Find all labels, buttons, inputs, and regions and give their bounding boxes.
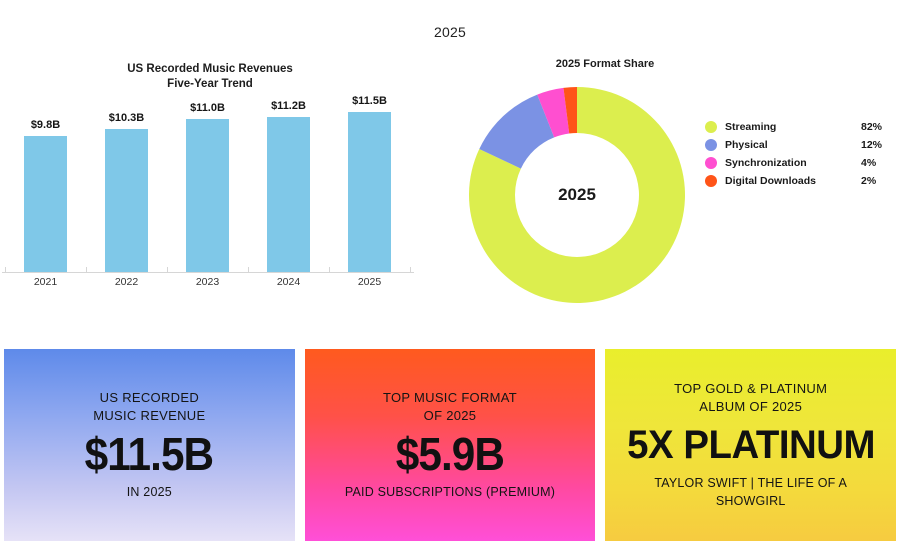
stat-cards-row: US RECORDED MUSIC REVENUE $11.5B IN 2025… (0, 349, 900, 541)
bar[interactable] (186, 119, 229, 272)
bar[interactable] (105, 129, 148, 272)
bar[interactable] (267, 117, 310, 272)
dashboard-page: 2025 US Recorded Music Revenues Five-Yea… (0, 0, 900, 548)
donut-chart-graphic: 2025 (465, 83, 689, 307)
bar-group: $11.5B (329, 100, 410, 272)
x-axis-label-2025: 2025 (329, 276, 410, 288)
bar-group: $10.3B (86, 100, 167, 272)
legend-swatch-icon (705, 139, 717, 151)
bar-chart-title: US Recorded Music Revenues Five-Year Tre… (0, 58, 420, 92)
legend-value: 12% (861, 139, 895, 151)
stat-card-us-recorded-music-revenue[interactable]: US RECORDED MUSIC REVENUE $11.5B IN 2025 (4, 349, 295, 541)
legend-value: 4% (861, 157, 895, 169)
x-axis-tick (167, 267, 168, 273)
stat-card-kicker-line2: OF 2025 (383, 407, 517, 425)
stat-card-kicker-line1: TOP MUSIC FORMAT (383, 389, 517, 407)
bar-chart-plot-area: $9.8B$10.3B$11.0B$11.2B$11.5B (0, 100, 420, 272)
stat-card-value: $11.5B (85, 425, 214, 483)
legend-swatch-icon (705, 157, 717, 169)
x-axis-label-2023: 2023 (167, 276, 248, 288)
bar-chart-title-line1: US Recorded Music Revenues (0, 62, 420, 77)
stat-card-value: $5.9B (396, 425, 504, 483)
legend-item-synchronization[interactable]: Synchronization4% (705, 154, 895, 172)
bar-chart-x-axis (2, 272, 414, 273)
stat-card-kicker-line1: TOP GOLD & PLATINUM (674, 380, 827, 398)
stat-card-kicker-line2: MUSIC REVENUE (93, 407, 205, 425)
x-axis-label-2024: 2024 (248, 276, 329, 288)
legend-swatch-icon (705, 175, 717, 187)
bar[interactable] (348, 112, 391, 272)
legend-label: Physical (725, 139, 861, 151)
page-title: 2025 (0, 24, 900, 40)
legend-swatch-icon (705, 121, 717, 133)
bar-group: $9.8B (5, 100, 86, 272)
x-axis-tick (329, 267, 330, 273)
x-axis-tick (5, 267, 6, 273)
bar-value-label: $11.0B (167, 102, 248, 114)
donut-svg (465, 83, 689, 307)
stat-card-kicker-line2: ALBUM OF 2025 (674, 398, 827, 416)
legend-item-streaming[interactable]: Streaming82% (705, 118, 895, 136)
bar-group: $11.0B (167, 100, 248, 272)
stat-card-kicker: US RECORDED MUSIC REVENUE (93, 389, 205, 425)
stat-card-value: 5X PLATINUM (627, 416, 875, 474)
bar-value-label: $10.3B (86, 112, 167, 124)
x-axis-label-2021: 2021 (5, 276, 86, 288)
bar-group: $11.2B (248, 100, 329, 272)
stat-card-subtitle-line2: SHOWGIRL (654, 492, 847, 510)
legend-label: Digital Downloads (725, 175, 861, 187)
bar-chart-panel: US Recorded Music Revenues Five-Year Tre… (0, 58, 420, 313)
stat-card-top-gold-platinum-album[interactable]: TOP GOLD & PLATINUM ALBUM OF 2025 5X PLA… (605, 349, 896, 541)
stat-card-kicker: TOP MUSIC FORMAT OF 2025 (383, 389, 517, 425)
stat-card-subtitle: IN 2025 (127, 483, 172, 501)
stat-card-subtitle-line1: TAYLOR SWIFT | THE LIFE OF A (654, 474, 847, 492)
legend-value: 82% (861, 121, 895, 133)
bar-chart-title-line2: Five-Year Trend (0, 77, 420, 92)
legend-label: Streaming (725, 121, 861, 133)
legend-item-physical[interactable]: Physical12% (705, 136, 895, 154)
x-axis-tick (248, 267, 249, 273)
x-axis-tick (410, 267, 411, 273)
stat-card-kicker: TOP GOLD & PLATINUM ALBUM OF 2025 (674, 380, 827, 416)
donut-chart-panel: 2025 Format Share 2025 Streaming82%Physi… (440, 55, 900, 315)
legend-item-digital-downloads[interactable]: Digital Downloads2% (705, 172, 895, 190)
donut-chart-legend: Streaming82%Physical12%Synchronization4%… (705, 118, 895, 190)
stat-card-subtitle: TAYLOR SWIFT | THE LIFE OF A SHOWGIRL (654, 474, 847, 510)
bar-value-label: $9.8B (5, 119, 86, 131)
stat-card-kicker-line1: US RECORDED (93, 389, 205, 407)
stat-card-subtitle: PAID SUBSCRIPTIONS (PREMIUM) (345, 483, 555, 501)
bar-chart-x-tick-labels: 20212022202320242025 (0, 276, 420, 296)
legend-value: 2% (861, 175, 895, 187)
x-axis-label-2022: 2022 (86, 276, 167, 288)
stat-card-top-music-format[interactable]: TOP MUSIC FORMAT OF 2025 $5.9B PAID SUBS… (305, 349, 596, 541)
bar-value-label: $11.5B (329, 95, 410, 107)
x-axis-tick (86, 267, 87, 273)
bar-value-label: $11.2B (248, 100, 329, 112)
donut-chart-title: 2025 Format Share (470, 58, 740, 70)
legend-label: Synchronization (725, 157, 861, 169)
bar[interactable] (24, 136, 67, 272)
